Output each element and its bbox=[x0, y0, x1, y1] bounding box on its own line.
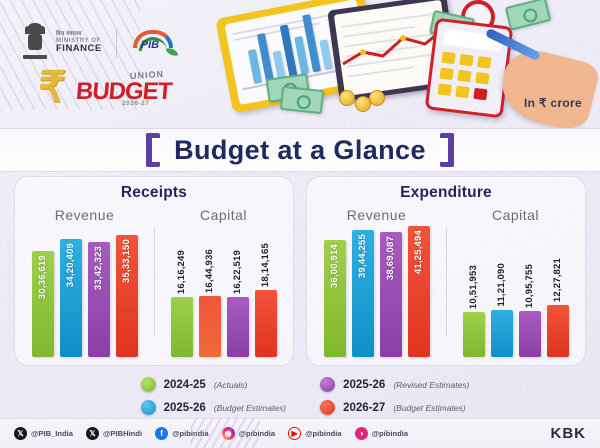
pib-logo-text: PIB bbox=[141, 39, 159, 51]
bar-2026-27-be[interactable]: 12,27,821 bbox=[547, 305, 569, 357]
bar-group-expenditure-capital: 10,51,953 11,21,090 10,95,755 12,27,821 bbox=[446, 229, 585, 357]
legend-year: 2024-25 bbox=[164, 379, 206, 391]
bar-2025-26-be[interactable]: 16,44,936 bbox=[199, 296, 221, 357]
bar-value: 16,16,249 bbox=[176, 250, 187, 294]
bar-2025-26-re[interactable]: 10,95,755 bbox=[519, 311, 541, 357]
legend-year: 2026-27 bbox=[343, 402, 385, 414]
legend-year: 2025-26 bbox=[164, 402, 206, 414]
legend-dot-blue-icon bbox=[141, 400, 156, 415]
rupee-icon: ₹ bbox=[35, 62, 67, 111]
legend-dot-purple-icon bbox=[320, 377, 335, 392]
unit-note: In ₹ crore bbox=[524, 96, 582, 110]
bar-value: 18,14,165 bbox=[260, 243, 271, 287]
pib-logo-icon: PIB bbox=[131, 26, 179, 60]
legend-dot-red-icon bbox=[320, 400, 335, 415]
bracket-right-icon bbox=[440, 133, 454, 167]
legend-item-2025-26-re[interactable]: 2025-26 (Revised Estimates) bbox=[320, 377, 469, 392]
koo-icon: ◑ bbox=[355, 427, 368, 440]
youtube-icon: ▶ bbox=[288, 427, 301, 440]
x-icon: 𝕏 bbox=[14, 427, 27, 440]
social-handle: @PIBHindi bbox=[103, 429, 142, 438]
bar-value: 35,33,150 bbox=[121, 239, 132, 283]
bar-2026-27-be[interactable]: 18,14,165 bbox=[255, 290, 277, 357]
legend-note: (Budget Estimates) bbox=[214, 403, 286, 413]
legend-note: (Actuals) bbox=[214, 380, 248, 390]
bar-2024-25-actuals[interactable]: 36,00,914 bbox=[324, 240, 346, 357]
bar-2025-26-be[interactable]: 39,44,255 bbox=[352, 230, 374, 357]
bar-2025-26-be[interactable]: 11,21,090 bbox=[491, 310, 513, 357]
group-label-expenditure-capital: Capital bbox=[446, 207, 585, 223]
social-item-koo[interactable]: ◑ @pibindia bbox=[355, 427, 409, 440]
bar-value: 39,44,255 bbox=[357, 234, 368, 278]
ministry-label: वित्त मंत्रालय MINISTRY OF FINANCE bbox=[56, 32, 102, 54]
social-handle: @pibindia bbox=[372, 429, 409, 438]
panel-title-receipts: Receipts bbox=[15, 184, 293, 202]
panel-title-expenditure: Expenditure bbox=[307, 184, 585, 202]
legend-note: (Revised Estimates) bbox=[393, 380, 469, 390]
page-title: Budget at a Glance bbox=[0, 130, 600, 170]
coin-icon bbox=[339, 90, 355, 106]
bar-2024-25-actuals[interactable]: 30,36,619 bbox=[32, 251, 54, 357]
legend-column-left: 2024-25 (Actuals) 2025-26 (Budget Estima… bbox=[141, 374, 287, 418]
legend-note: (Budget Estimates) bbox=[393, 403, 465, 413]
bar-value: 11,21,090 bbox=[496, 263, 507, 307]
bracket-left-icon bbox=[146, 133, 160, 167]
bar-value: 16,44,936 bbox=[204, 249, 215, 293]
bar-2024-25-actuals[interactable]: 16,16,249 bbox=[171, 297, 193, 357]
social-handle: @pibindia bbox=[305, 429, 342, 438]
cash-note-icon bbox=[280, 86, 324, 114]
bar-value: 12,27,821 bbox=[552, 258, 563, 302]
group-label-expenditure-revenue: Revenue bbox=[307, 207, 446, 223]
bar-value: 16,22,519 bbox=[232, 250, 243, 294]
bar-value: 10,95,755 bbox=[524, 264, 535, 308]
chart-panels: Receipts Revenue Capital 30,36,619 34,20… bbox=[0, 176, 600, 372]
group-label-receipts-revenue: Revenue bbox=[15, 207, 154, 223]
header: वित्त मंत्रालय MINISTRY OF FINANCE PIB ₹… bbox=[0, 0, 600, 128]
union-budget-logo: ₹ UNION BUDGET 2026-27 bbox=[38, 64, 162, 110]
national-emblem-icon bbox=[22, 26, 48, 60]
facebook-icon: f bbox=[155, 427, 168, 440]
page-title-text: Budget at a Glance bbox=[174, 135, 426, 166]
ministry-line2: FINANCE bbox=[56, 44, 102, 54]
legend-year: 2025-26 bbox=[343, 379, 385, 391]
panel-expenditure: Expenditure Revenue Capital 36,00,914 39… bbox=[306, 176, 586, 366]
bar-value: 41,25,494 bbox=[413, 230, 424, 274]
legend-item-2025-26-be[interactable]: 2025-26 (Budget Estimates) bbox=[141, 400, 287, 415]
legend-item-2026-27-be[interactable]: 2026-27 (Budget Estimates) bbox=[320, 400, 469, 415]
credit-kbk: KBK bbox=[551, 425, 587, 442]
bar-2025-26-be[interactable]: 34,20,409 bbox=[60, 239, 82, 357]
legend-item-2024-25-actuals[interactable]: 2024-25 (Actuals) bbox=[141, 377, 287, 392]
bar-2025-26-re[interactable]: 16,22,519 bbox=[227, 297, 249, 357]
cash-note-icon bbox=[505, 0, 552, 31]
bar-value: 33,42,323 bbox=[93, 246, 104, 290]
bar-value: 10,51,953 bbox=[468, 265, 479, 309]
bar-2026-27-be[interactable]: 41,25,494 bbox=[408, 226, 430, 357]
social-item-pib-hindi-x[interactable]: 𝕏 @PIBHindi bbox=[86, 427, 142, 440]
coin-icon bbox=[369, 90, 385, 106]
bar-group-expenditure-revenue: 36,00,914 39,44,255 38,69,087 41,25,494 bbox=[307, 229, 446, 357]
legend-column-right: 2025-26 (Revised Estimates) 2026-27 (Bud… bbox=[320, 374, 469, 418]
logo-divider bbox=[116, 28, 117, 58]
social-handle: @PIB_India bbox=[31, 429, 73, 438]
bar-value: 38,69,087 bbox=[385, 236, 396, 280]
bar-group-receipts-revenue: 30,36,619 34,20,409 33,42,323 35,33,150 bbox=[15, 229, 154, 357]
bar-2024-25-actuals[interactable]: 10,51,953 bbox=[463, 312, 485, 357]
infographic-page: वित्त मंत्रालय MINISTRY OF FINANCE PIB ₹… bbox=[0, 0, 600, 448]
bar-2025-26-re[interactable]: 38,69,087 bbox=[380, 232, 402, 357]
bar-2025-26-re[interactable]: 33,42,323 bbox=[88, 242, 110, 357]
ministry-logo-group: वित्त मंत्रालय MINISTRY OF FINANCE PIB bbox=[22, 26, 179, 60]
bar-value: 36,00,914 bbox=[329, 244, 340, 288]
panel-receipts: Receipts Revenue Capital 30,36,619 34,20… bbox=[14, 176, 294, 366]
bar-value: 34,20,409 bbox=[65, 243, 76, 287]
chart-legend: 2024-25 (Actuals) 2025-26 (Budget Estima… bbox=[0, 374, 600, 418]
budget-logo-year: 2026-27 bbox=[122, 100, 149, 107]
group-label-receipts-capital: Capital bbox=[154, 207, 293, 223]
footer-social-bar: 𝕏 @PIB_India 𝕏 @PIBHindi f @pibindia ◉ @… bbox=[0, 418, 600, 448]
legend-dot-green-icon bbox=[141, 377, 156, 392]
x-icon: 𝕏 bbox=[86, 427, 99, 440]
social-item-youtube[interactable]: ▶ @pibindia bbox=[288, 427, 342, 440]
bar-2026-27-be[interactable]: 35,33,150 bbox=[116, 235, 138, 357]
hand-illustration bbox=[495, 44, 600, 134]
bar-group-receipts-capital: 16,16,249 16,44,936 16,22,519 18,14,165 bbox=[154, 229, 293, 357]
social-item-pib-india-x[interactable]: 𝕏 @PIB_India bbox=[14, 427, 73, 440]
bar-value: 30,36,619 bbox=[37, 255, 48, 299]
footer-texture bbox=[190, 418, 260, 448]
